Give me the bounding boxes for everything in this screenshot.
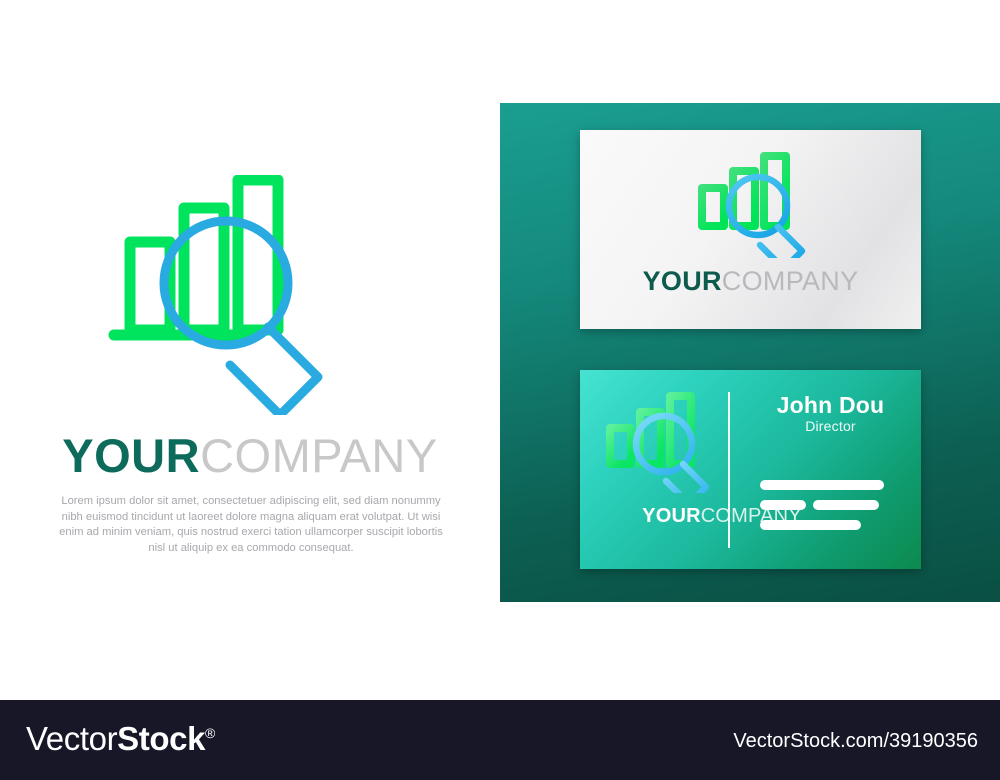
person-role: Director [740,418,921,434]
business-card-front: YOURCOMPANY [580,130,921,329]
contact-placeholder-bar [760,500,806,510]
artboard: YOURCOMPANY Lorem ipsum dolor sit amet, … [0,0,1000,780]
card-wordmark-light: COMPANY [722,266,859,296]
person-name: John Dou [740,392,921,419]
business-card-back: YOURCOMPANY John Dou Director [580,370,921,569]
contact-placeholder-bar [760,520,861,530]
registered-mark-icon: ® [205,725,215,741]
vectorstock-logo: VectorStock® [26,720,215,758]
bar-chart-magnifier-icon [597,388,719,493]
bar-chart-magnifier-icon [688,148,816,258]
watermark-url: VectorStock.com/39190356 [733,730,978,753]
footer-brand-light: Vector [26,720,117,757]
card-wordmark: YOURCOMPANY [580,266,921,297]
bar-chart-magnifier-icon [108,175,398,415]
logo-presentation-area: YOURCOMPANY Lorem ipsum dolor sit amet, … [0,0,500,700]
wordmark-light: COMPANY [200,429,438,482]
footer-brand-bold: Stock [117,720,205,757]
contact-placeholder-bar [760,480,884,490]
card-wordmark-bold: YOUR [642,505,701,527]
wordmark-bold: YOUR [62,429,200,482]
card-wordmark-bold: YOUR [643,266,722,296]
tagline-text: Lorem ipsum dolor sit amet, consectetuer… [55,494,447,556]
page-title: YOURCOMPANY [0,432,500,479]
contact-placeholder-bar [813,500,879,510]
vertical-divider [728,392,730,548]
watermark-footer: VectorStock® VectorStock.com/39190356 [0,700,1000,780]
